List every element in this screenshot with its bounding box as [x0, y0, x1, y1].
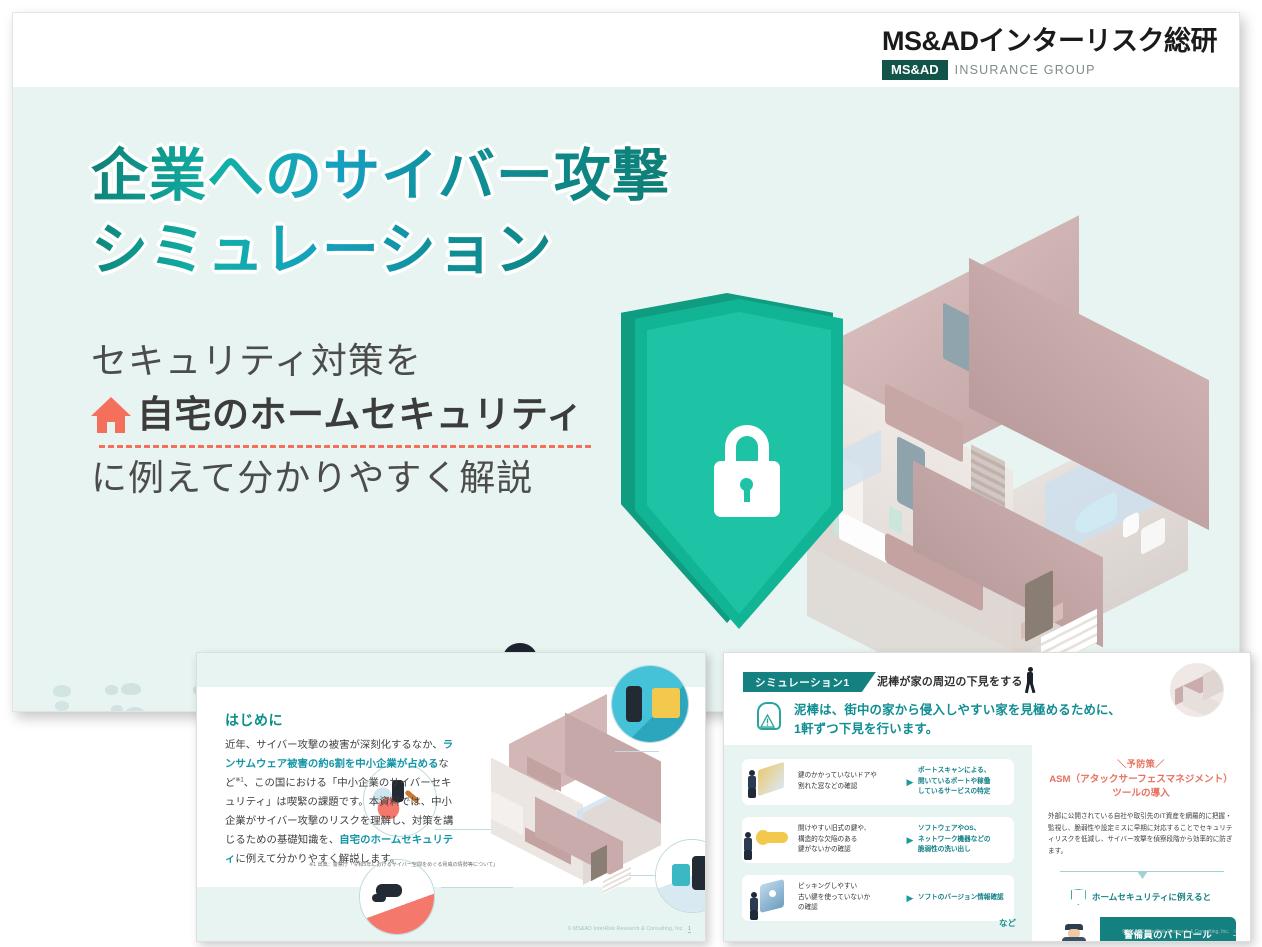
example-label: ホームセキュリティに例えると [1092, 891, 1211, 903]
sim-card-3: ピッキングしやすい 古い鍵を使っていないか の確認 ▶ ソフトのバージョン情報確… [742, 875, 1014, 921]
sim-card-3-right: ソフトのバージョン情報確認 [918, 893, 1014, 904]
intro-text-1: 近年、サイバー攻撃の被害が深刻化するなか、 [225, 740, 443, 751]
simulation-left-pane: 鍵のかかっていないドアや 割れた窓などの確認 ▶ ポートスキャンによる、 開いて… [724, 745, 1032, 941]
shield-icon [621, 293, 861, 653]
simulation-page-number: 4 [1233, 929, 1236, 936]
subtitle-line-3: に例えて分かりやすく解説 [91, 452, 591, 504]
intro-footnote: ※1 出典：警察庁「令和5年におけるサイバー空間をめぐる脅威の情勢等について」 [309, 861, 498, 868]
shield-outline-icon [1071, 889, 1086, 905]
walking-thief-icon [1024, 667, 1037, 693]
thumbnail-simulation-slide[interactable]: シミュレーション1 泥棒が家の周辺の下見をする 泥棒は、街中の家から侵入しやすい… [723, 652, 1251, 942]
house-warning-icon [754, 701, 788, 733]
intro-heading: はじめに [225, 710, 283, 730]
sim-card-1-right: ポートスキャンによる、 開いているポートや稼働 しているサービスの特定 [918, 766, 1014, 798]
simulation-badge: シミュレーション1 [743, 672, 876, 692]
callout-crawling-thief [359, 859, 435, 935]
dashed-underline [99, 445, 591, 448]
logo-sub-row: MS&AD INSURANCE GROUP [882, 60, 1217, 80]
cover-header: MS&ADインターリスク総研 MS&AD INSURANCE GROUP [13, 13, 1239, 87]
prevention-title: ASM（アタックサーフェスマネジメント） ツールの導入 [1042, 773, 1240, 802]
old-key-icon [742, 818, 798, 862]
simulation-footer: © MS&AD InterRisk Research & Consulting,… [1122, 929, 1236, 935]
sim-card-2: 開けやすい旧式の鍵や、 構造的な欠陥のある 鍵がないかの確認 ▶ ソフトウェアや… [742, 817, 1014, 863]
sim-card-2-right: ソフトウェアやOS、 ネットワーク機器などの 脆弱性の洗い出し [918, 824, 1014, 856]
open-door-icon [742, 760, 798, 804]
intro-footnote-mark: ※1 [235, 777, 243, 783]
intro-body-text: 近年、サイバー攻撃の被害が深刻化するなか、ランサムウェア被害の約6割を中小企業が… [225, 737, 455, 870]
warning-triangle-icon [760, 714, 775, 728]
simulation-headline-line-1: 泥棒は、街中の家から侵入しやすい家を見極めるために、 [794, 701, 1124, 720]
subtitle-highlight-row: 自宅のホームセキュリティ [91, 393, 591, 437]
callout-lock-picking [655, 839, 706, 913]
logo-insurance-group-text: INSURANCE GROUP [955, 63, 1096, 77]
callout-safe-cracking [611, 665, 689, 743]
slide-preview-thumbnail [1170, 663, 1224, 717]
simulation-copyright: © MS&AD InterRisk Research & Consulting,… [1122, 929, 1229, 935]
cover-subtitle-block: セキュリティ対策を 自宅のホームセキュリティ に例えて分かりやすく解説 [91, 335, 591, 504]
company-logo: MS&ADインターリスク総研 MS&AD INSURANCE GROUP [882, 27, 1217, 80]
etc-label: など [999, 917, 1016, 929]
simulation-title: 泥棒が家の周辺の下見をする [877, 673, 1023, 689]
logo-badge: MS&AD [882, 60, 948, 80]
logo-main-text: MS&ADインターリスク総研 [882, 27, 1217, 55]
prevention-title-line-2: ツールの導入 [1042, 787, 1240, 801]
page-title: 企業へのサイバー攻撃 シミュレーション [91, 139, 670, 287]
sim-card-2-arrow: ▶ [902, 835, 918, 846]
mini-isometric-house [469, 711, 679, 911]
padlock-pick-icon [742, 876, 798, 920]
intro-footer: © MS&AD InterRisk Research & Consulting,… [568, 926, 691, 932]
intro-text-3: 、この国における「中小企業のサイバー [244, 778, 431, 789]
home-security-example-row: ホームセキュリティに例えると [1032, 889, 1250, 905]
sim-card-1-arrow: ▶ [902, 777, 918, 788]
intro-highlight-2: 自宅のホーム [339, 835, 401, 846]
cover-body: 企業へのサイバー攻撃 シミュレーション セキュリティ対策を 自宅のホームセキュリ… [13, 87, 1239, 712]
cover-slide: MS&ADインターリスク総研 MS&AD INSURANCE GROUP [12, 12, 1240, 712]
prevention-body: 外部に公開されている自社や取引先のIT資産を網羅的に把握・監視し、脆弱性や設定ミ… [1048, 811, 1236, 857]
sim-card-2-left: 開けやすい旧式の鍵や、 構造的な欠陥のある 鍵がないかの確認 [798, 824, 902, 856]
subtitle-line-1: セキュリティ対策を [91, 335, 591, 387]
intro-page-number: 1 [688, 926, 691, 933]
home-icon [91, 397, 131, 433]
sim-card-1-left: 鍵のかかっていないドアや 割れた窓などの確認 [798, 771, 902, 792]
thumbnail-intro-slide[interactable]: はじめに 近年、サイバー攻撃の被害が深刻化するなか、ランサムウェア被害の約6割を… [196, 652, 706, 942]
section-divider [1060, 871, 1224, 881]
sim-card-3-arrow: ▶ [902, 893, 918, 904]
subtitle-highlight: 自宅のホームセキュリティ [137, 393, 584, 437]
security-guard-icon [1046, 917, 1100, 942]
simulation-headline-line-2: 1軒ずつ下見を行います。 [794, 720, 1124, 739]
prevention-title-line-1: ASM（アタックサーフェスマネジメント） [1042, 773, 1240, 787]
sim-card-3-left: ピッキングしやすい 古い鍵を使っていないか の確認 [798, 882, 902, 914]
simulation-right-pane: ＼予防策／ ASM（アタックサーフェスマネジメント） ツールの導入 外部に公開さ… [1032, 745, 1250, 941]
sim-card-1: 鍵のかかっていないドアや 割れた窓などの確認 ▶ ポートスキャンによる、 開いて… [742, 759, 1014, 805]
intro-copyright: © MS&AD InterRisk Research & Consulting,… [568, 926, 684, 932]
padlock-icon [711, 425, 783, 517]
prevention-label: ＼予防策／ [1032, 757, 1250, 770]
simulation-headline: 泥棒は、街中の家から侵入しやすい家を見極めるために、 1軒ずつ下見を行います。 [794, 701, 1124, 739]
